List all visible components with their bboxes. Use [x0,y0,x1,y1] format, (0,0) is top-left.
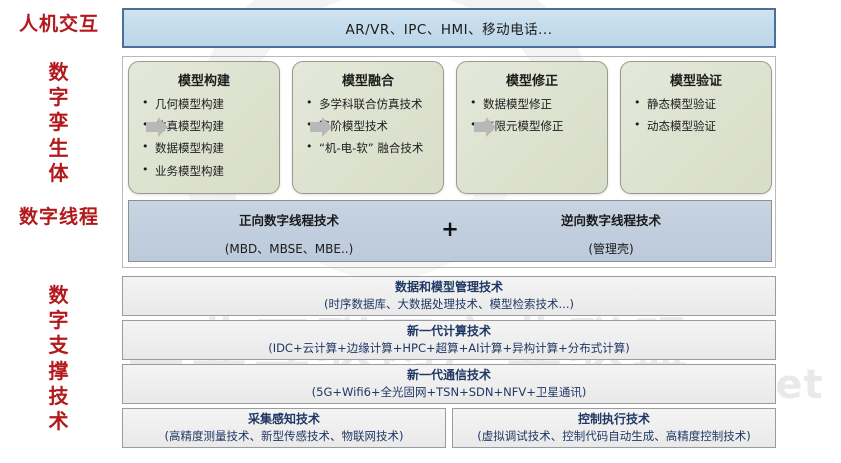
reverse-digital-thread: 逆向数字线程技术 (管理壳) [461,210,761,257]
arrow-fusion-to-correction-icon [310,117,332,137]
model-box-list-item: 动态模型验证 [627,120,765,133]
rail-label-line: 撑 [0,359,118,384]
support-row-title: 控制执行技术 [578,412,650,427]
rail-label-line: 数 [0,283,118,308]
model-box-list: 几何模型构建仿真模型构建数据模型构建业务模型构建 [135,98,273,178]
model-box-title: 模型构建 [135,70,273,89]
reverse-thread-title: 逆向数字线程技术 [461,210,761,229]
digital-thread-panel: 正向数字线程技术 (MBD、MBSE、MBE..) + 逆向数字线程技术 (管理… [128,200,772,262]
model-box-list-item: 数据模型修正 [463,98,601,111]
rail-label-digital-thread: 数字线程 [0,207,118,228]
forward-digital-thread: 正向数字线程技术 (MBD、MBSE、MBE..) [139,210,439,257]
rail-label-line: 人机 [19,13,59,35]
model-box-title: 模型融合 [299,70,437,89]
support-row-detail: (虚拟调试技术、控制代码自动生成、高精度控制技术) [477,429,750,443]
support-row-acquisition-and-sensing[interactable]: 采集感知技术(高精度测量技术、新型传感技术、物联网技术) [122,408,446,448]
arrow-correction-to-validation-icon [474,117,496,137]
arrow-build-to-fusion-icon [146,117,168,137]
rail-label-line: 字 [0,308,118,333]
model-box-4[interactable]: 模型验证静态模型验证动态模型验证 [620,61,772,194]
support-row-detail: (IDC+云计算+边缘计算+HPC+超算+AI计算+异构计算+分布式计算) [268,341,630,355]
model-box-title: 模型验证 [627,70,765,89]
support-row-detail: (高精度测量技术、新型传感技术、物联网技术) [165,429,404,443]
banner-label: AR/VR、IPC、HMI、移动电话... [346,18,553,38]
rail-label-line: 数 [0,60,118,85]
rail-label-digital-twin: 数字孪生体 [0,60,118,186]
rail-label-line: 支 [0,333,118,358]
model-box-group: 模型构建几何模型构建仿真模型构建数据模型构建业务模型构建模型融合多学科联合仿真技… [128,61,772,194]
support-row-next-gen-computing[interactable]: 新一代计算技术(IDC+云计算+边缘计算+HPC+超算+AI计算+异构计算+分布… [122,320,776,360]
support-row-title: 新一代通信技术 [407,368,491,383]
support-row-title: 采集感知技术 [248,412,320,427]
rail-label-line: 线程 [59,206,99,228]
rail-label-line: 孪 [0,110,118,135]
model-box-list-item: 业务模型构建 [135,165,273,178]
support-row-title: 新一代计算技术 [407,324,491,339]
model-box-list-item: 静态模型验证 [627,98,765,111]
forward-thread-title: 正向数字线程技术 [139,210,439,229]
rail-label-line: 字 [0,85,118,110]
model-box-list-item: 数据模型构建 [135,142,273,155]
model-box-list-item: 多学科联合仿真技术 [299,98,437,111]
human-machine-interaction-banner: AR/VR、IPC、HMI、移动电话... [122,8,776,48]
support-row-control-execution[interactable]: 控制执行技术(虚拟调试技术、控制代码自动生成、高精度控制技术) [452,408,776,448]
forward-thread-detail: (MBD、MBSE、MBE..) [139,240,439,257]
rail-label-human-machine-interaction: 人机交互 [0,14,118,35]
rail-label-line: 生 [0,136,118,161]
model-box-list: 静态模型验证动态模型验证 [627,98,765,133]
rail-label-digital-support-technology: 数字支撑技术 [0,283,118,434]
plus-sign-icon: + [441,219,459,240]
support-row-data-and-model-management[interactable]: 数据和模型管理技术(时序数据库、大数据处理技术、模型检索技术...) [122,276,776,316]
diagram-root: 工业互联网产业联盟 Alliance of Industrial Interne… [0,0,841,463]
support-row-detail: (5G+Wifi6+全光固网+TSN+SDN+NFV+卫星通讯) [312,385,587,399]
reverse-thread-detail: (管理壳) [461,240,761,257]
support-row-title: 数据和模型管理技术 [395,280,503,295]
rail-label-line: 数字 [19,206,59,228]
model-box-list-item: 几何模型构建 [135,98,273,111]
model-box-title: 模型修正 [463,70,601,89]
support-row-next-gen-communication[interactable]: 新一代通信技术(5G+Wifi6+全光固网+TSN+SDN+NFV+卫星通讯) [122,364,776,404]
rail-label-line: 交互 [59,13,99,35]
rail-label-line: 技 [0,384,118,409]
support-row-detail: (时序数据库、大数据处理技术、模型检索技术...) [324,297,574,311]
model-box-list-item: “机-电-软” 融合技术 [299,142,437,155]
rail-label-line: 体 [0,161,118,186]
left-rail: 人机交互数字孪生体数字线程数字支撑技术 [0,0,118,463]
rail-label-line: 术 [0,409,118,434]
